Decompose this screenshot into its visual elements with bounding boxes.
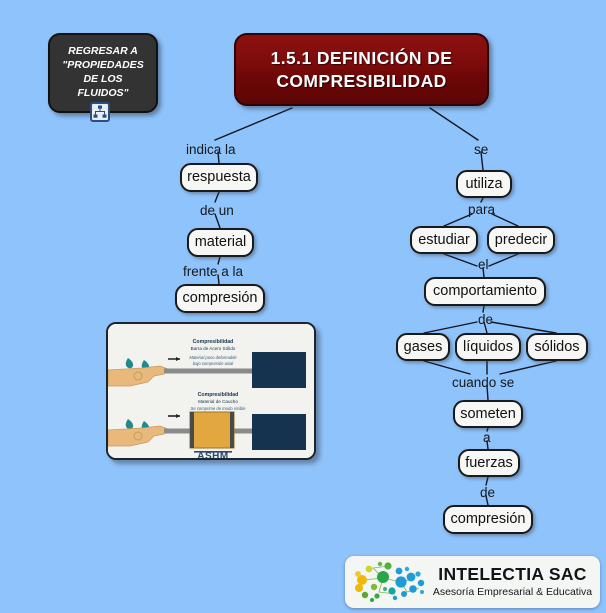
svg-text:Se comprime de modo visible: Se comprime de modo visible	[191, 406, 247, 411]
svg-text:bajo compresión axial: bajo compresión axial	[193, 361, 235, 366]
link-label-cuando-se: cuando se	[452, 376, 514, 390]
svg-text:Compresibilidad: Compresibilidad	[198, 392, 239, 398]
node-respuesta[interactable]: respuesta	[180, 163, 258, 192]
banner-subtitle: Asesoría Empresarial & Educativa	[431, 586, 594, 599]
illustration-graphic: Compresibilidad Barra de Acero Sólido Ma…	[108, 324, 316, 460]
concept-map-canvas: REGRESAR A "PROPIEDADES DE LOS FLUIDOS" …	[0, 0, 606, 613]
banner-text-block: INTELECTIA SAC Asesoría Empresarial & Ed…	[431, 565, 600, 599]
network-dots-logo	[349, 558, 431, 606]
intelectia-banner[interactable]: INTELECTIA SAC Asesoría Empresarial & Ed…	[345, 556, 600, 608]
svg-text:Material de Caucho: Material de Caucho	[198, 399, 238, 404]
link-label-para: para	[468, 203, 495, 217]
link-label-se: se	[474, 143, 488, 157]
banner-title: INTELECTIA SAC	[431, 565, 594, 584]
link-label-indica-la: indica la	[186, 143, 236, 157]
node-predecir[interactable]: predecir	[487, 226, 555, 254]
node-liquidos[interactable]: líquidos	[455, 333, 521, 361]
link-label-de-compres: de	[480, 486, 495, 500]
node-material[interactable]: material	[187, 228, 254, 257]
link-label-a-fuerzas: a	[483, 431, 491, 445]
svg-text:Compresibilidad: Compresibilidad	[193, 339, 234, 345]
node-someten[interactable]: someten	[453, 400, 523, 428]
back-button-label: REGRESAR A "PROPIEDADES DE LOS FLUIDOS"	[62, 45, 143, 100]
svg-text:Barra de Acero Sólido: Barra de Acero Sólido	[191, 346, 236, 351]
node-comportamiento[interactable]: comportamiento	[424, 277, 546, 306]
node-compresion-izq[interactable]: compresión	[175, 284, 265, 313]
node-gases[interactable]: gases	[396, 333, 450, 361]
node-estudiar[interactable]: estudiar	[410, 226, 478, 254]
node-fuerzas[interactable]: fuerzas	[458, 449, 520, 477]
node-solidos[interactable]: sólidos	[526, 333, 588, 361]
page-title: 1.5.1 DEFINICIÓN DE COMPRESIBILIDAD	[234, 33, 489, 106]
node-compresion-der[interactable]: compresión	[443, 505, 533, 534]
hierarchy-map-icon[interactable]	[90, 102, 110, 122]
link-label-frente-a-la: frente a la	[183, 265, 243, 279]
compressibility-illustration[interactable]: Compresibilidad Barra de Acero Sólido Ma…	[106, 322, 316, 460]
svg-text:Material poco deformable: Material poco deformable	[189, 355, 237, 360]
link-label-el: el	[478, 258, 489, 272]
back-to-properties-button[interactable]: REGRESAR A "PROPIEDADES DE LOS FLUIDOS"	[48, 33, 158, 113]
link-label-de-gases: de	[478, 313, 493, 327]
node-utiliza[interactable]: utiliza	[456, 170, 512, 198]
link-label-de-un: de un	[200, 204, 234, 218]
svg-text:ASHM: ASHM	[197, 451, 228, 460]
